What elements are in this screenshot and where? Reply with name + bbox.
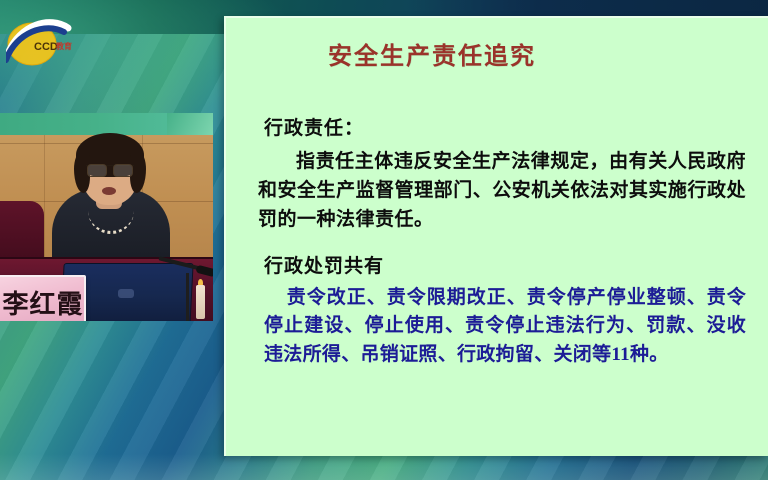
slide-body: 行政责任： 指责任主体违反安全生产法律规定，由有关人民政府和安全生产监督管理部门…: [226, 113, 768, 369]
section-paragraph-administrative-liability: 指责任主体违反安全生产法律规定，由有关人民政府和安全生产监督管理部门、公安机关依…: [258, 148, 746, 235]
logo-graphic: CCD 教育: [6, 14, 76, 68]
glasses-lens-left: [87, 164, 107, 177]
slide-title: 安全生产责任追究: [226, 36, 768, 71]
section-heading-administrative-liability: 行政责任：: [264, 113, 746, 140]
ccd-channel-logo: CCD 教育: [6, 14, 76, 68]
candle: [196, 285, 205, 319]
chair: [0, 201, 44, 261]
glasses-lens-right: [113, 164, 133, 177]
speaker-nameplate: 李红霞: [0, 275, 86, 321]
lecture-video-feed[interactable]: 李红霞: [0, 113, 213, 321]
background-bottom-fade: [0, 454, 768, 480]
laptop-logo: [118, 289, 134, 298]
screen: CCD 教育: [0, 0, 768, 480]
presentation-slide: 安全生产责任追究 行政责任： 指责任主体违反安全生产法律规定，由有关人民政府和安…: [224, 16, 768, 456]
logo-text: CCD: [34, 41, 58, 53]
logo-suffix: 教育: [55, 41, 72, 51]
speaker-name: 李红霞: [2, 284, 83, 321]
section-paragraph-administrative-penalties: 责令改正、责令限期改正、责令停产停业整顿、责令停止建设、停止使用、责令停止违法行…: [264, 284, 746, 370]
microphone-stand: [186, 273, 189, 321]
section-heading-administrative-penalties: 行政处罚共有: [264, 251, 746, 278]
speaker-mouth: [102, 187, 116, 195]
